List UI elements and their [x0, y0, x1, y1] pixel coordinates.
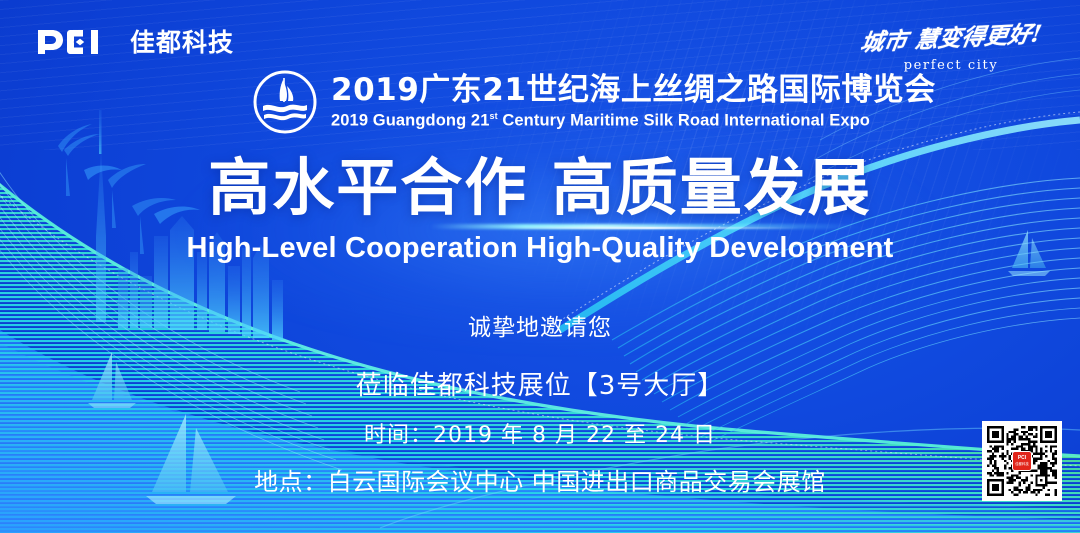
expo-title-cn: 2019广东21世纪海上丝绸之路国际博览会 [331, 73, 936, 108]
expo-title-en-sup: st [490, 111, 498, 121]
expo-title-en-pre: 2019 Guangdong 21 [331, 111, 490, 129]
qr-badge-line-1: PCI [1018, 456, 1026, 461]
expo-title-en-post: Century Maritime Silk Road International… [502, 111, 870, 129]
pci-logo-label: 佳都科技 [130, 30, 234, 55]
maritime-silk-road-emblem [253, 70, 317, 134]
wechat-qr-code[interactable]: PCI 佳都科技 [982, 421, 1062, 501]
promo-banner: 佳都科技 城市 慧变得更好! perfect city 2019广东21世纪海上… [0, 0, 1080, 533]
expo-title-en: 2019 Guangdong 21st Century Maritime Sil… [331, 111, 936, 131]
event-time: 时间：2019 年 8 月 22 至 24 日 [0, 422, 1080, 450]
headline-block: 高水平合作 高质量发展 High-Level Cooperation High-… [0, 155, 1080, 265]
expo-title-block: 2019广东21世纪海上丝绸之路国际博览会 2019 Guangdong 21s… [253, 70, 936, 134]
pci-logo[interactable]: 佳都科技 [36, 28, 234, 56]
invitation-line-1: 诚挚地邀请您 [0, 315, 1080, 343]
invitation-line-2: 莅临佳都科技展位【3号大厅】 [0, 371, 1080, 402]
perfect-city-cn: 城市 慧变得更好! [853, 21, 1049, 56]
headline-cn: 高水平合作 高质量发展 [0, 155, 1080, 220]
pci-logo-mark [36, 28, 120, 56]
qr-badge-line-2: 佳都科技 [1015, 462, 1029, 466]
headline-en: High-Level Cooperation High-Quality Deve… [0, 232, 1080, 265]
perfect-city-tagline: 城市 慧变得更好! perfect city [856, 26, 1046, 73]
event-details-block: 时间：2019 年 8 月 22 至 24 日 地点：白云国际会议中心 中国进出… [0, 422, 1080, 497]
event-venue: 地点：白云国际会议中心 中国进出口商品交易会展馆 [0, 467, 1080, 497]
invitation-block: 诚挚地邀请您 莅临佳都科技展位【3号大厅】 [0, 315, 1080, 402]
qr-center-badge: PCI 佳都科技 [1012, 451, 1032, 471]
